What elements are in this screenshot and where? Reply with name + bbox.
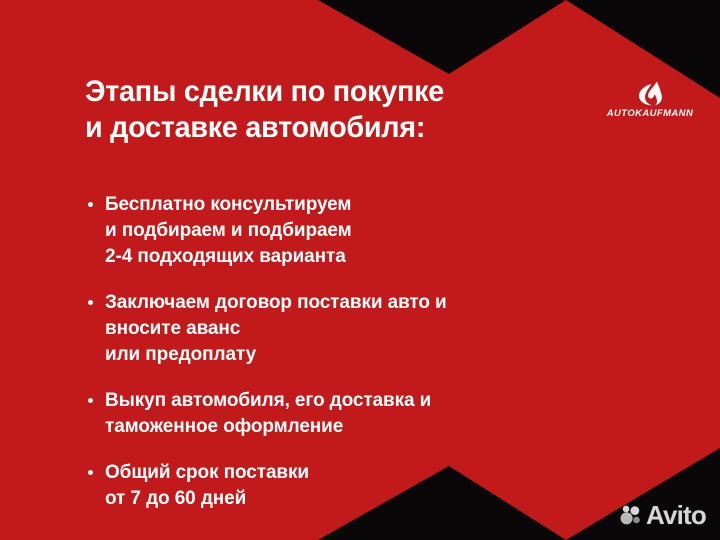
list-item-line: Общий срок поставки [105, 460, 603, 486]
bullet-dot-icon [88, 300, 93, 305]
list-item-line: от 7 до 60 дней [105, 486, 603, 512]
list-item-line: таможенное оформление [105, 414, 603, 440]
title-line-1: Этапы сделки по покупке [85, 74, 594, 110]
list-item-line: и подбираем и подбираем [105, 218, 603, 244]
avito-dots-icon [620, 504, 642, 526]
avito-label: Avito [646, 502, 706, 528]
list-item: Выкуп автомобиля, его доставка и таможен… [83, 388, 603, 440]
brand-wordmark: AUTOKAUFMANN [598, 108, 702, 119]
list-item: Бесплатно консультируем и подбираем и по… [83, 192, 603, 270]
bullet-dot-icon [88, 470, 93, 475]
bullet-dot-icon [88, 398, 93, 403]
list-item-line: Бесплатно консультируем [105, 192, 603, 218]
title-line-2: и доставке автомобиля: [85, 110, 594, 146]
list-item: Общий срок поставки от 7 до 60 дней [83, 460, 603, 512]
flame-swoosh-icon [635, 80, 665, 107]
steps-list: Бесплатно консультируем и подбираем и по… [83, 192, 603, 512]
page-title: Этапы сделки по покупке и доставке автом… [85, 74, 594, 146]
list-item-line: Заключаем договор поставки авто и [105, 290, 603, 316]
bullet-dot-icon [88, 202, 93, 207]
list-item-line: 2-4 подходящих варианта [105, 244, 603, 270]
brand-logo: AUTOKAUFMANN [598, 80, 702, 119]
list-item: Заключаем договор поставки авто и вносит… [83, 290, 603, 368]
list-item-line: Выкуп автомобиля, его доставка и [105, 388, 603, 414]
list-item-line: или предоплату [105, 342, 603, 368]
list-item-line: вносите аванс [105, 316, 603, 342]
avito-watermark: Avito [620, 502, 706, 528]
poster-canvas: Этапы сделки по покупке и доставке автом… [0, 0, 720, 540]
